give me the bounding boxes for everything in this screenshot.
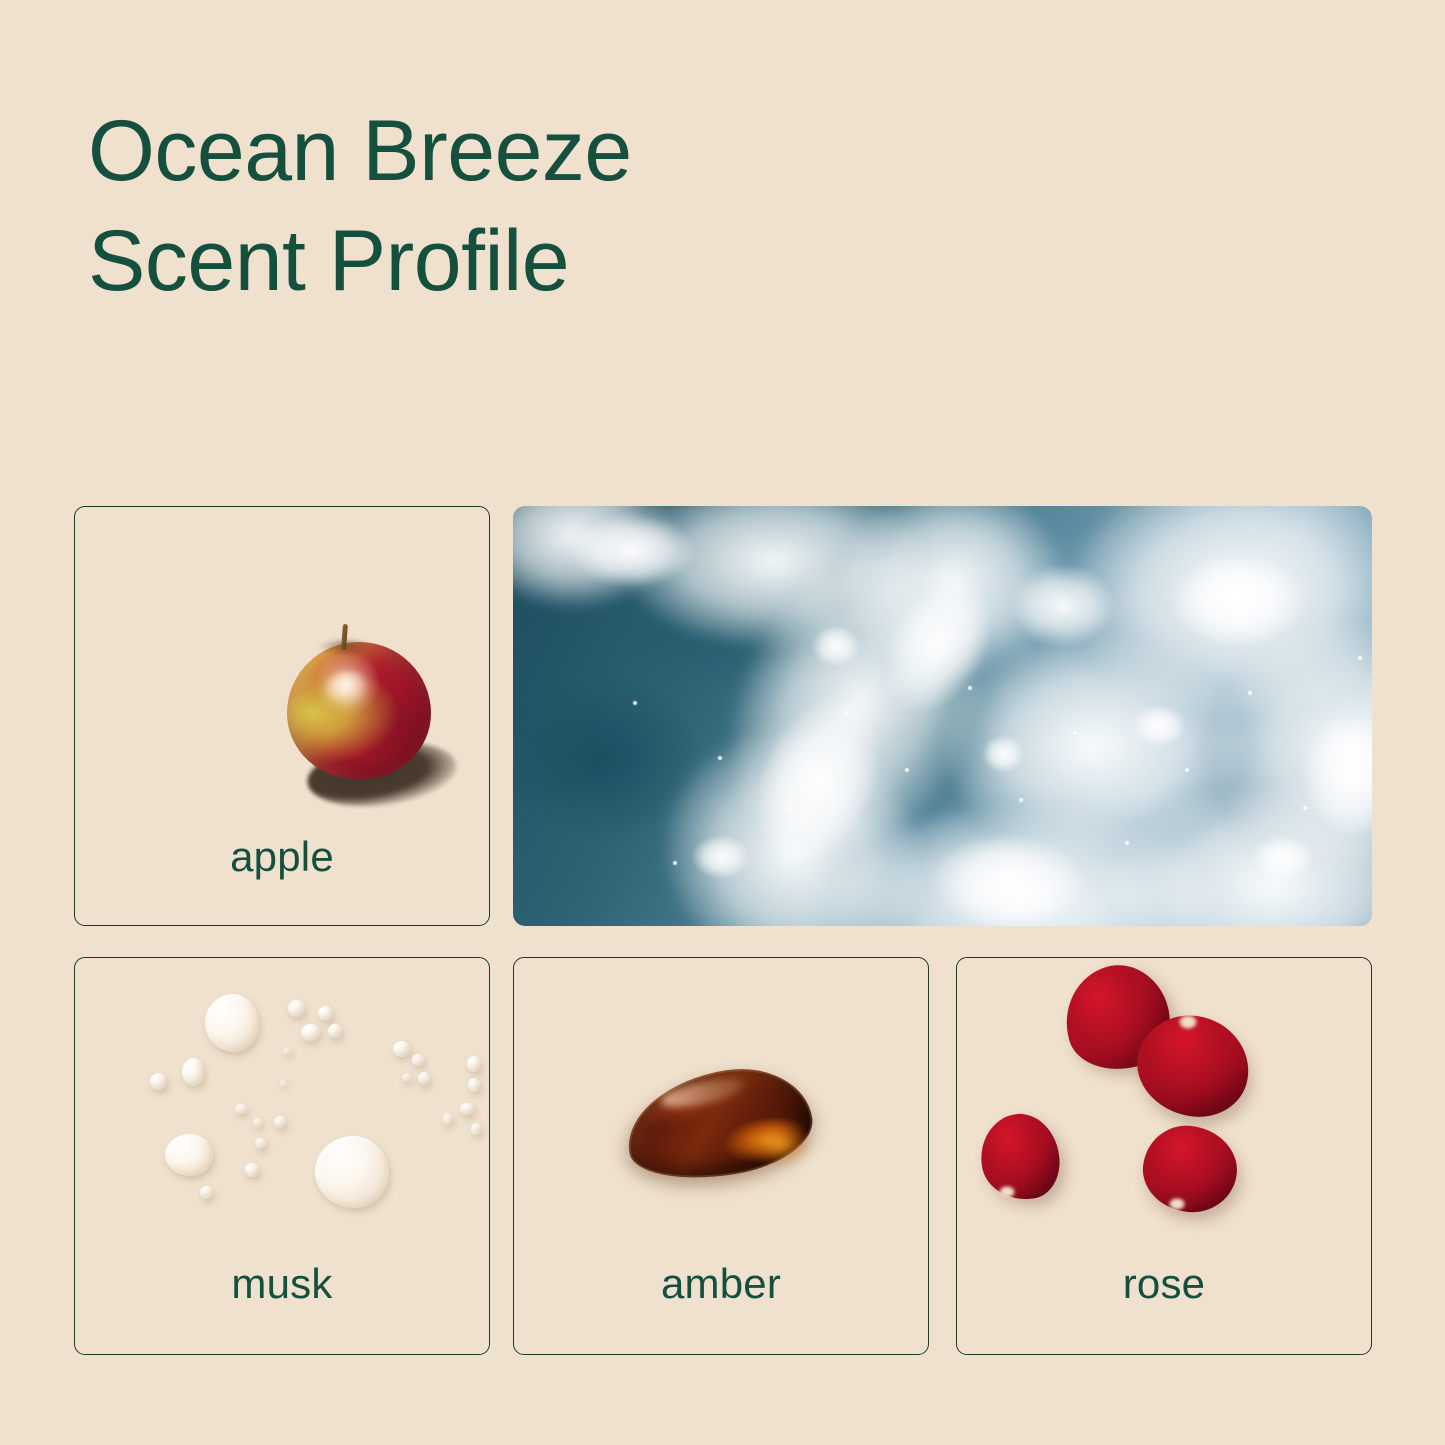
scent-card-amber[interactable]: amber [513,957,929,1355]
ocean-photo [513,506,1372,926]
page-title: Ocean Breeze Scent Profile [88,96,988,316]
card-label-rose: rose [957,1260,1371,1308]
card-label-apple: apple [75,833,489,881]
scent-card-rose[interactable]: rose [956,957,1372,1355]
rose-petal-tip [999,1186,1015,1198]
rose-petal [1139,1121,1241,1216]
card-label-amber: amber [514,1260,928,1308]
scent-card-apple[interactable]: apple [74,506,490,926]
card-label-musk: musk [75,1260,489,1308]
rose-petal [975,1109,1064,1205]
apple-body [287,642,431,779]
amber-rim [619,1058,819,1190]
rose-petal-tip [1169,1198,1185,1210]
rose-petal-tip [1179,1015,1197,1029]
scent-card-musk[interactable]: musk [74,957,490,1355]
scent-card-ocean[interactable] [513,506,1372,926]
musk-photo: musk [75,958,489,1354]
apple-highlight [325,672,369,706]
